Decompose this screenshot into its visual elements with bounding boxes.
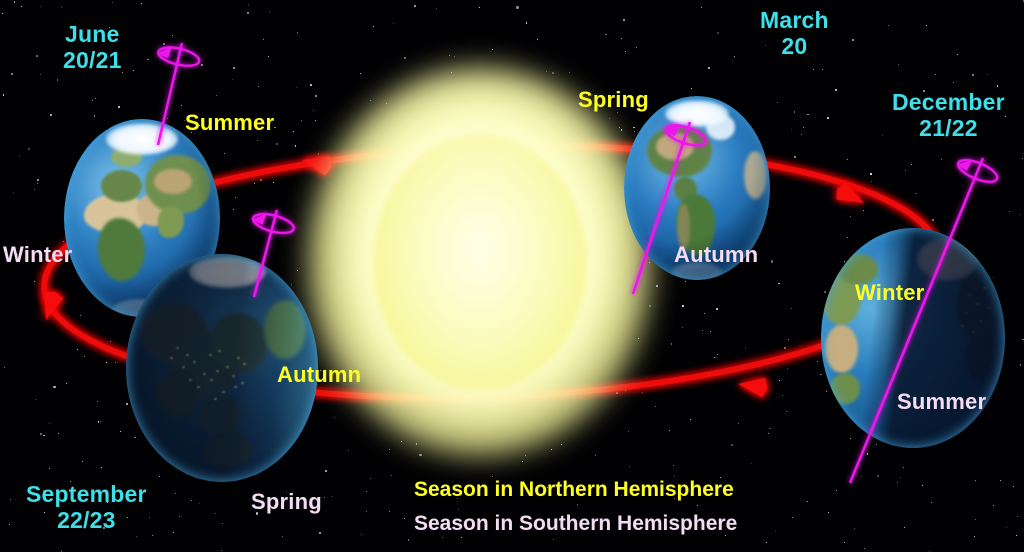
date-label-june-solstice: June20/21 [63, 22, 122, 74]
city-light [203, 373, 206, 375]
city-light [214, 398, 217, 400]
polar-ice-cap [189, 256, 266, 288]
legend-northern-hemisphere: Season in Northern Hemisphere [414, 478, 734, 502]
city-light [222, 391, 225, 393]
landmass [101, 170, 142, 202]
date-line-2: 20 [760, 34, 829, 60]
city-light [965, 312, 968, 314]
city-light [237, 357, 240, 359]
date-line-1: June [63, 22, 122, 48]
northern-season-june-solstice: Summer [185, 111, 274, 136]
orbit-arrow-bottom [737, 374, 769, 398]
city-light [226, 366, 229, 368]
northern-season-september-equinox: Autumn [277, 363, 361, 388]
southern-season-june-solstice: Winter [3, 243, 72, 268]
date-label-september-equinox: September22/23 [26, 482, 147, 534]
landmass [210, 313, 268, 372]
city-light [218, 350, 221, 352]
landmass [157, 368, 199, 418]
polar-ice-cap [665, 100, 729, 128]
earth-december-solstice [821, 228, 1005, 448]
landmass [965, 334, 1002, 382]
northern-season-december-solstice: Winter [855, 281, 924, 306]
landmass [825, 325, 858, 373]
city-light [232, 375, 235, 377]
landmass [158, 206, 185, 238]
southern-season-march-equinox: Autumn [674, 243, 758, 268]
city-light [961, 325, 964, 327]
landmass [830, 373, 859, 404]
landmass [199, 395, 241, 436]
seasons-diagram: June20/21SummerWinterSeptember22/23Autum… [0, 0, 1024, 552]
southern-season-december-solstice: Summer [897, 390, 986, 415]
landmass [203, 432, 253, 468]
southern-season-september-equinox: Spring [251, 490, 322, 515]
city-light [987, 307, 990, 309]
date-line-2: 21/22 [892, 116, 1005, 142]
polar-ice-cap [106, 123, 178, 155]
landmass [744, 151, 767, 199]
northern-season-march-equinox: Spring [578, 88, 649, 113]
sun [373, 134, 587, 390]
legend-southern-hemisphere: Season in Southern Hemisphere [414, 512, 737, 536]
city-light [182, 366, 185, 368]
landmass [264, 300, 306, 359]
date-label-march-equinox: March20 [760, 8, 829, 60]
date-line-1: September [26, 482, 147, 508]
city-light [976, 303, 979, 305]
date-label-december-solstice: December21/22 [892, 90, 1005, 142]
city-light [241, 382, 244, 384]
earth-globe [821, 228, 1005, 448]
date-line-1: December [892, 90, 1005, 116]
landmass [154, 169, 191, 195]
date-line-2: 22/23 [26, 508, 147, 534]
date-line-2: 20/21 [63, 48, 122, 74]
polar-ice-cap [917, 237, 980, 281]
city-light [170, 357, 173, 359]
city-light [234, 386, 237, 388]
date-line-1: March [760, 8, 829, 34]
landmass [98, 218, 145, 281]
